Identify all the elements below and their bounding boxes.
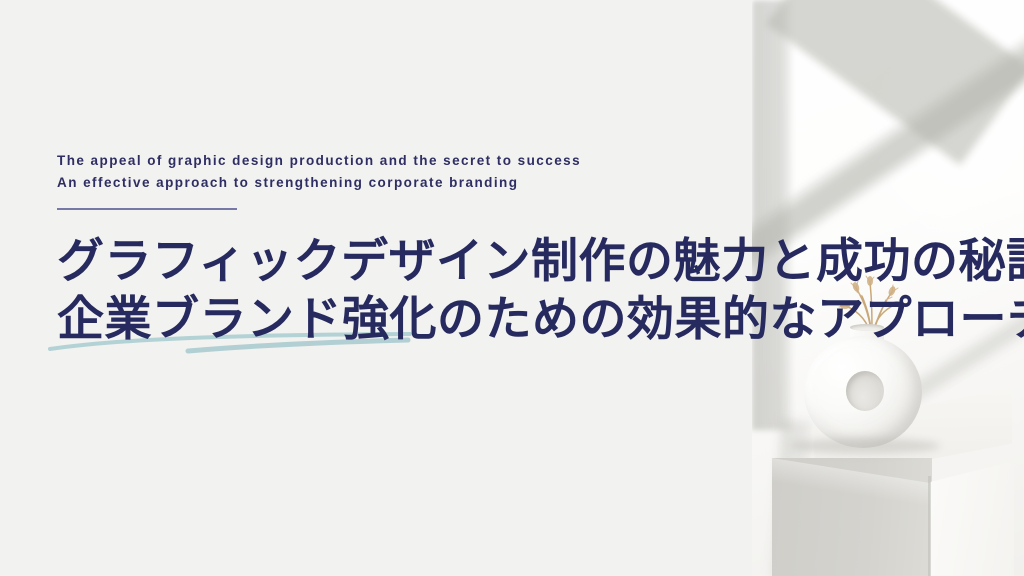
pedestal-corner-edge	[928, 476, 931, 576]
eyebrow-line-1: The appeal of graphic design production …	[57, 150, 1017, 172]
headline-line-2: 企業ブランド強化のための効果的なアプローチ	[57, 290, 1017, 348]
text-block: The appeal of graphic design production …	[57, 150, 1017, 348]
pedestal-side-face	[930, 461, 1014, 576]
divider-rule	[57, 208, 237, 210]
eyebrow-line-2: An effective approach to strengthening c…	[57, 172, 1017, 194]
headline-line-1: グラフィックデザイン制作の魅力と成功の秘訣	[57, 232, 1017, 290]
slide-canvas: The appeal of graphic design production …	[0, 0, 1024, 576]
vase-cast-shadow	[790, 438, 940, 454]
headline: グラフィックデザイン制作の魅力と成功の秘訣 企業ブランド強化のための効果的なアプ…	[57, 232, 1017, 348]
vase-center-hole	[846, 371, 884, 411]
